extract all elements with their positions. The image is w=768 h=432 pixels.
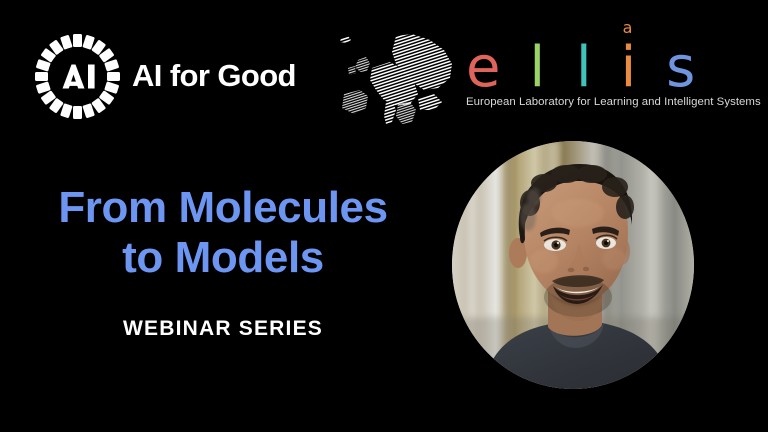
header-logo-bar: AI for Good	[0, 0, 768, 140]
page-title: From Molecules to Models	[18, 183, 428, 283]
ellis-letter-l-2: l	[576, 41, 592, 94]
speaker-portrait-image	[452, 141, 694, 389]
ellis-letter-l-1: l	[529, 41, 545, 94]
ai-for-good-wordmark: AI for Good	[132, 60, 296, 93]
ai-monogram-icon	[33, 32, 121, 120]
ellis-wordmark: e l l i a s	[462, 34, 761, 94]
page-title-line-2: to Models	[18, 233, 428, 283]
ellis-letter-i-glyph: i	[621, 35, 637, 100]
ai-for-good-logo-lockup: AI for Good	[33, 32, 296, 120]
ellis-wordmark-group: e l l i a s European Laboratory for Lear…	[462, 30, 761, 108]
page-title-line-1: From Molecules	[18, 183, 428, 233]
ellis-tagline: European Laboratory for Learning and Int…	[462, 96, 761, 108]
webinar-title-slide: AI for Good	[0, 0, 768, 432]
europe-map-hatched-icon	[334, 32, 456, 129]
ellis-superscript-a: a	[623, 20, 633, 36]
ellis-logo-lockup: e l l i a s European Laboratory for Lear…	[334, 30, 761, 129]
title-block: From Molecules to Models WEBINAR SERIES	[18, 183, 428, 341]
speaker-portrait	[452, 141, 694, 389]
ellis-letter-s: s	[666, 41, 695, 94]
ellis-letter-e: e	[466, 41, 500, 94]
ai-for-good-circle-logo-icon	[33, 32, 121, 120]
subtitle-webinar-series: WEBINAR SERIES	[18, 317, 428, 341]
ellis-letter-i: i a	[621, 41, 637, 94]
